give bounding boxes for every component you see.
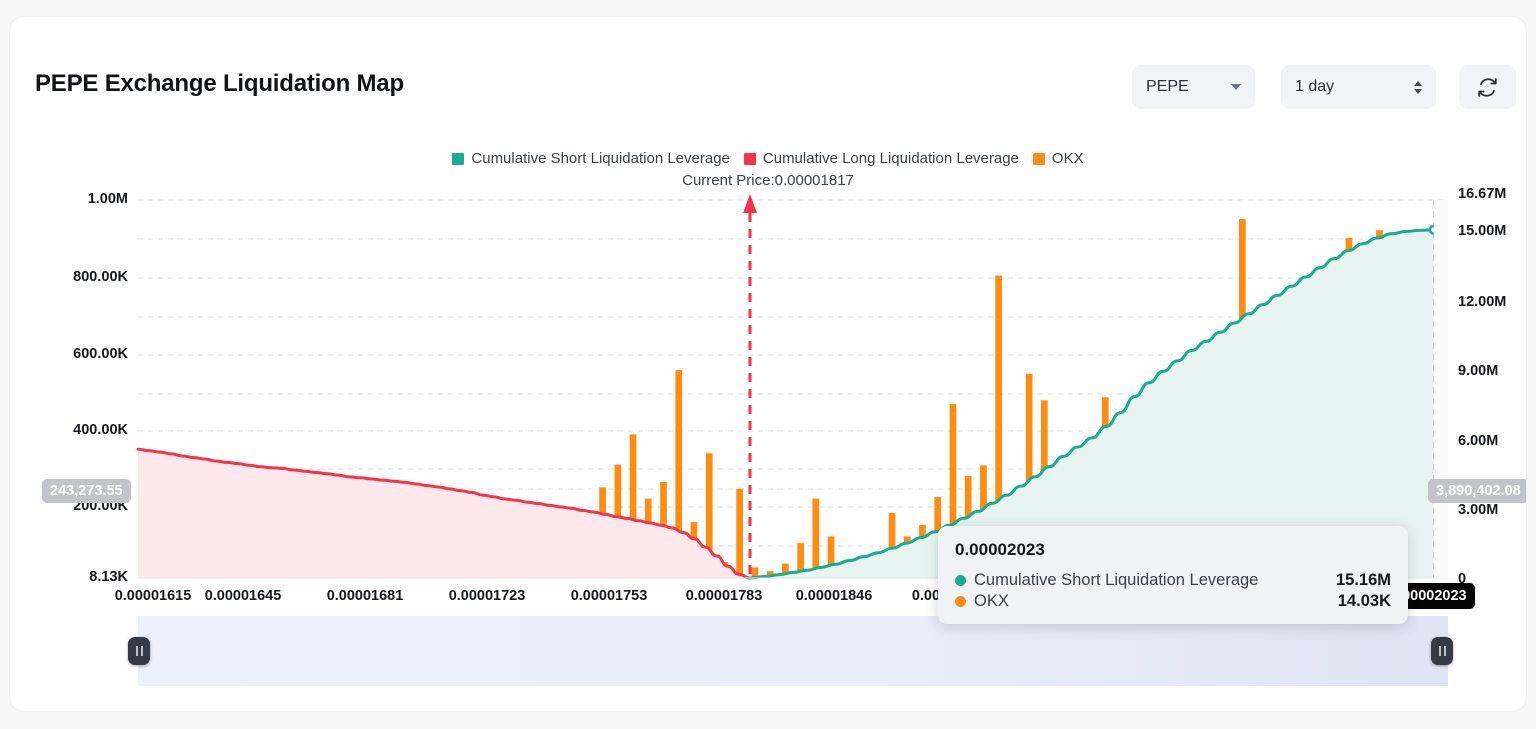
- right-axis-tick: 15.00M: [1458, 223, 1506, 239]
- right-axis-tick: 6.00M: [1458, 433, 1498, 449]
- tooltip-value-okx: 14.03K: [1338, 592, 1391, 611]
- tooltip-dot-short: [955, 575, 966, 586]
- tooltip-name-short: Cumulative Short Liquidation Leverage: [974, 571, 1324, 590]
- left-axis-tick: 1.00M: [30, 191, 128, 207]
- tooltip-value-short: 15.16M: [1336, 571, 1391, 590]
- brush-handle-right[interactable]: [1431, 637, 1453, 665]
- bar-okx[interactable]: [736, 489, 743, 578]
- tooltip-title: 0.00002023: [955, 540, 1391, 560]
- tooltip-row: Cumulative Short Liquidation Leverage 15…: [955, 571, 1391, 590]
- range-brush-track[interactable]: [138, 616, 1448, 686]
- x-axis-tick: 0.00001753: [571, 588, 648, 604]
- tooltip-dot-okx: [955, 596, 966, 607]
- tooltip-row: OKX 14.03K: [955, 592, 1391, 611]
- plot-right-gutter: [1434, 200, 1448, 578]
- left-axis-tick: 8.13K: [30, 569, 128, 585]
- x-axis-tick: 0.00001645: [205, 588, 282, 604]
- left-value-badge: 243,273.55: [42, 479, 131, 503]
- x-axis-tick: 0.00001615: [115, 588, 192, 604]
- right-axis-tick: 12.00M: [1458, 294, 1506, 310]
- right-axis-tick: 3.00M: [1458, 502, 1498, 518]
- current-price-arrow-icon: [743, 194, 757, 213]
- liquidation-map-panel: PEPE Exchange Liquidation Map PEPE 1 day…: [10, 17, 1526, 711]
- x-axis-tick: 0.00001783: [686, 588, 763, 604]
- left-axis-tick: 400.00K: [30, 422, 128, 438]
- x-axis-tick: 0.00001846: [796, 588, 873, 604]
- tooltip-name-okx: OKX: [974, 592, 1326, 611]
- left-axis-tick: 600.00K: [30, 346, 128, 362]
- brush-handle-left[interactable]: [128, 637, 150, 665]
- left-axis-tick: 800.00K: [30, 269, 128, 285]
- x-axis-tick: 0.00001681: [327, 588, 404, 604]
- chart-tooltip: 0.00002023 Cumulative Short Liquidation …: [938, 526, 1408, 624]
- x-axis-tick: 0.00001723: [449, 588, 526, 604]
- right-value-badge: 3,890,402.08: [1428, 479, 1526, 503]
- right-axis-tick: 9.00M: [1458, 363, 1498, 379]
- right-axis-tick: 16.67M: [1458, 186, 1506, 202]
